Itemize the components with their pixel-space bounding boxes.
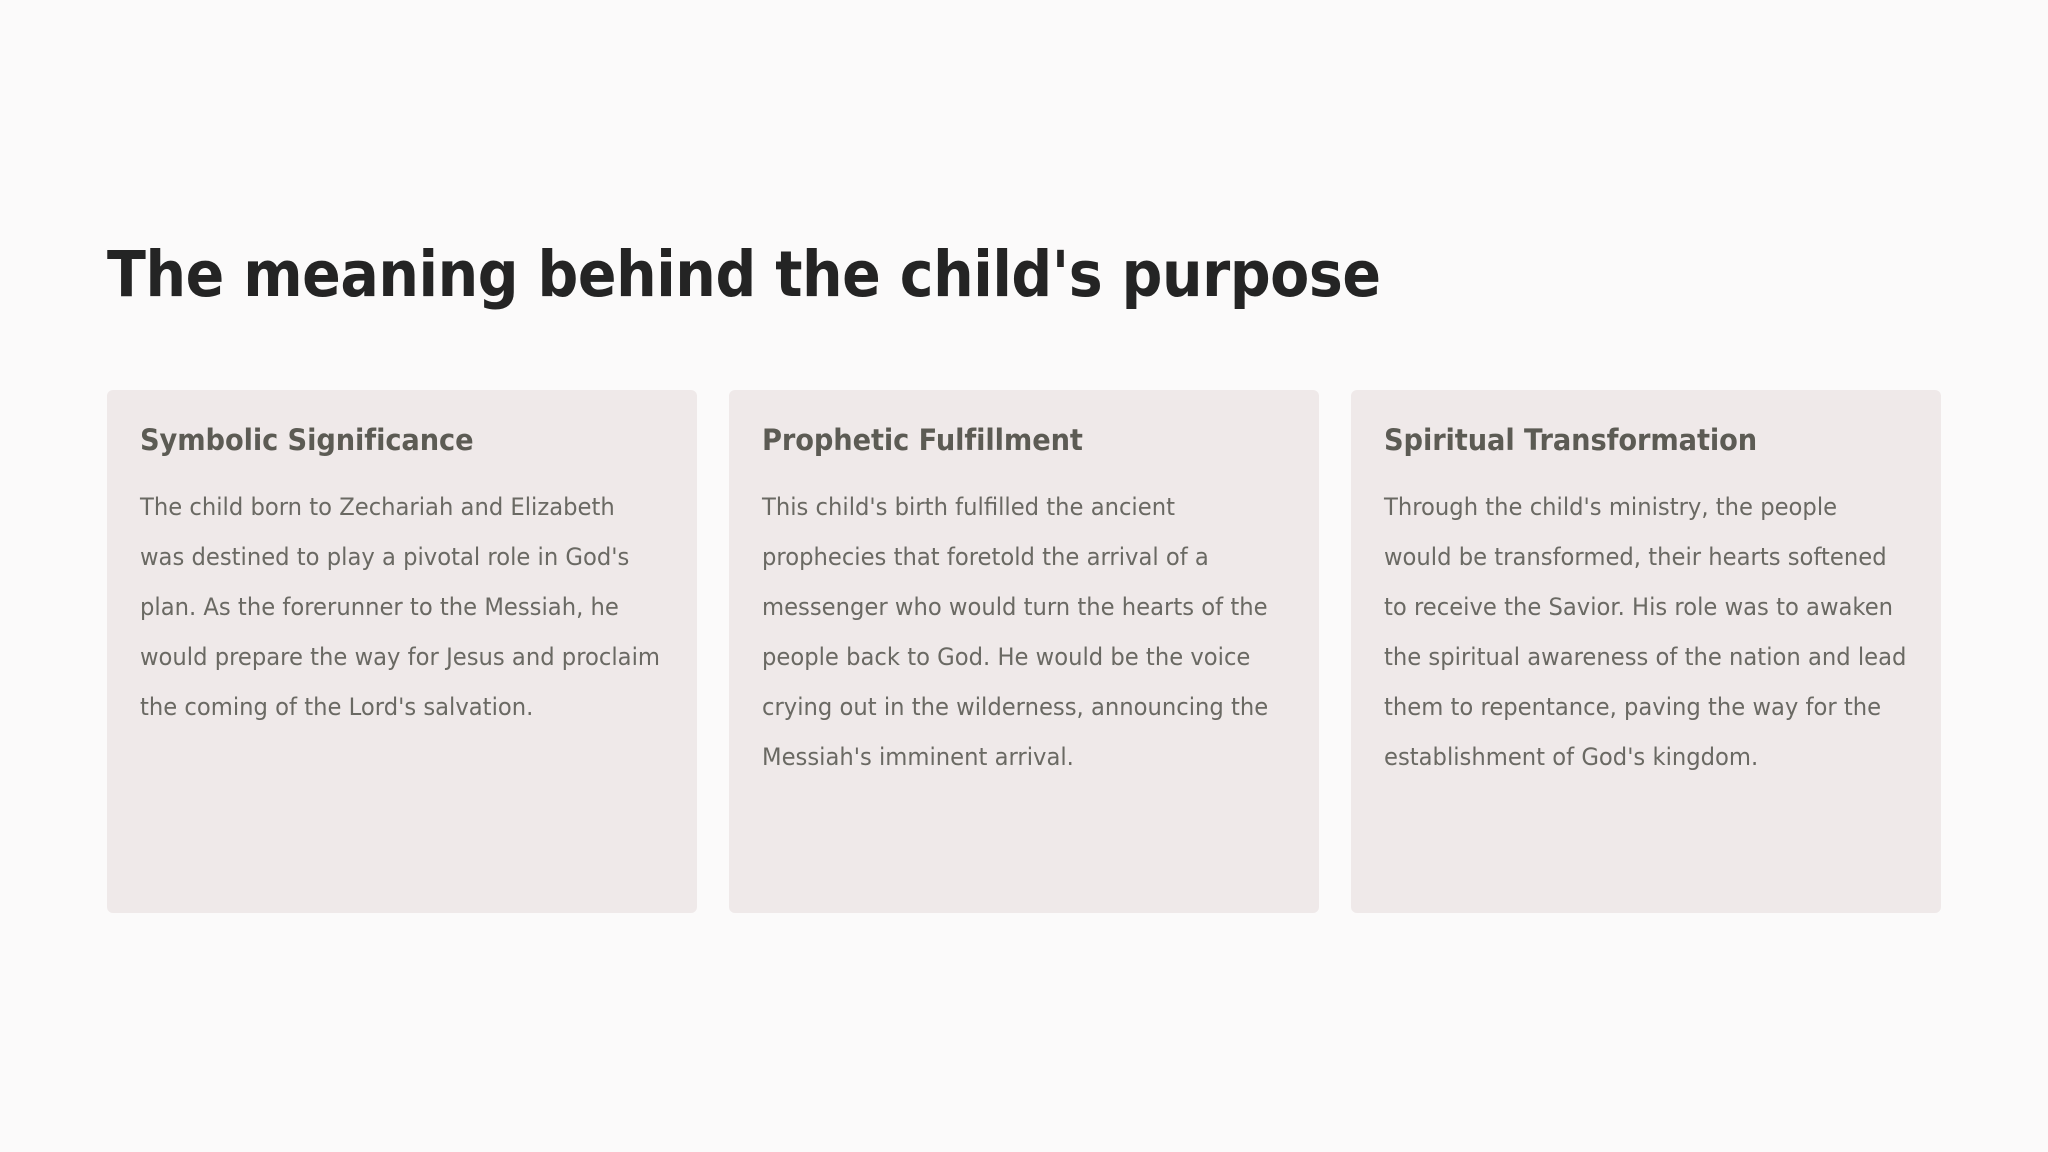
card-spiritual-transformation: Spiritual Transformation Through the chi… xyxy=(1351,390,1941,913)
card-heading: Symbolic Significance xyxy=(140,423,633,458)
card-heading: Spiritual Transformation xyxy=(1384,423,1877,458)
card-body-text: This child's birth fulfilled the ancient… xyxy=(762,482,1286,782)
page-title: The meaning behind the child's purpose xyxy=(107,240,1381,311)
card-body-text: Through the child's ministry, the people… xyxy=(1384,482,1908,782)
card-grid: Symbolic Significance The child born to … xyxy=(107,390,1941,913)
card-body-text: The child born to Zechariah and Elizabet… xyxy=(140,482,664,732)
card-heading: Prophetic Fulfillment xyxy=(762,423,1255,458)
card-prophetic-fulfillment: Prophetic Fulfillment This child's birth… xyxy=(729,390,1319,913)
page-root: The meaning behind the child's purpose S… xyxy=(0,0,2048,1152)
card-symbolic-significance: Symbolic Significance The child born to … xyxy=(107,390,697,913)
